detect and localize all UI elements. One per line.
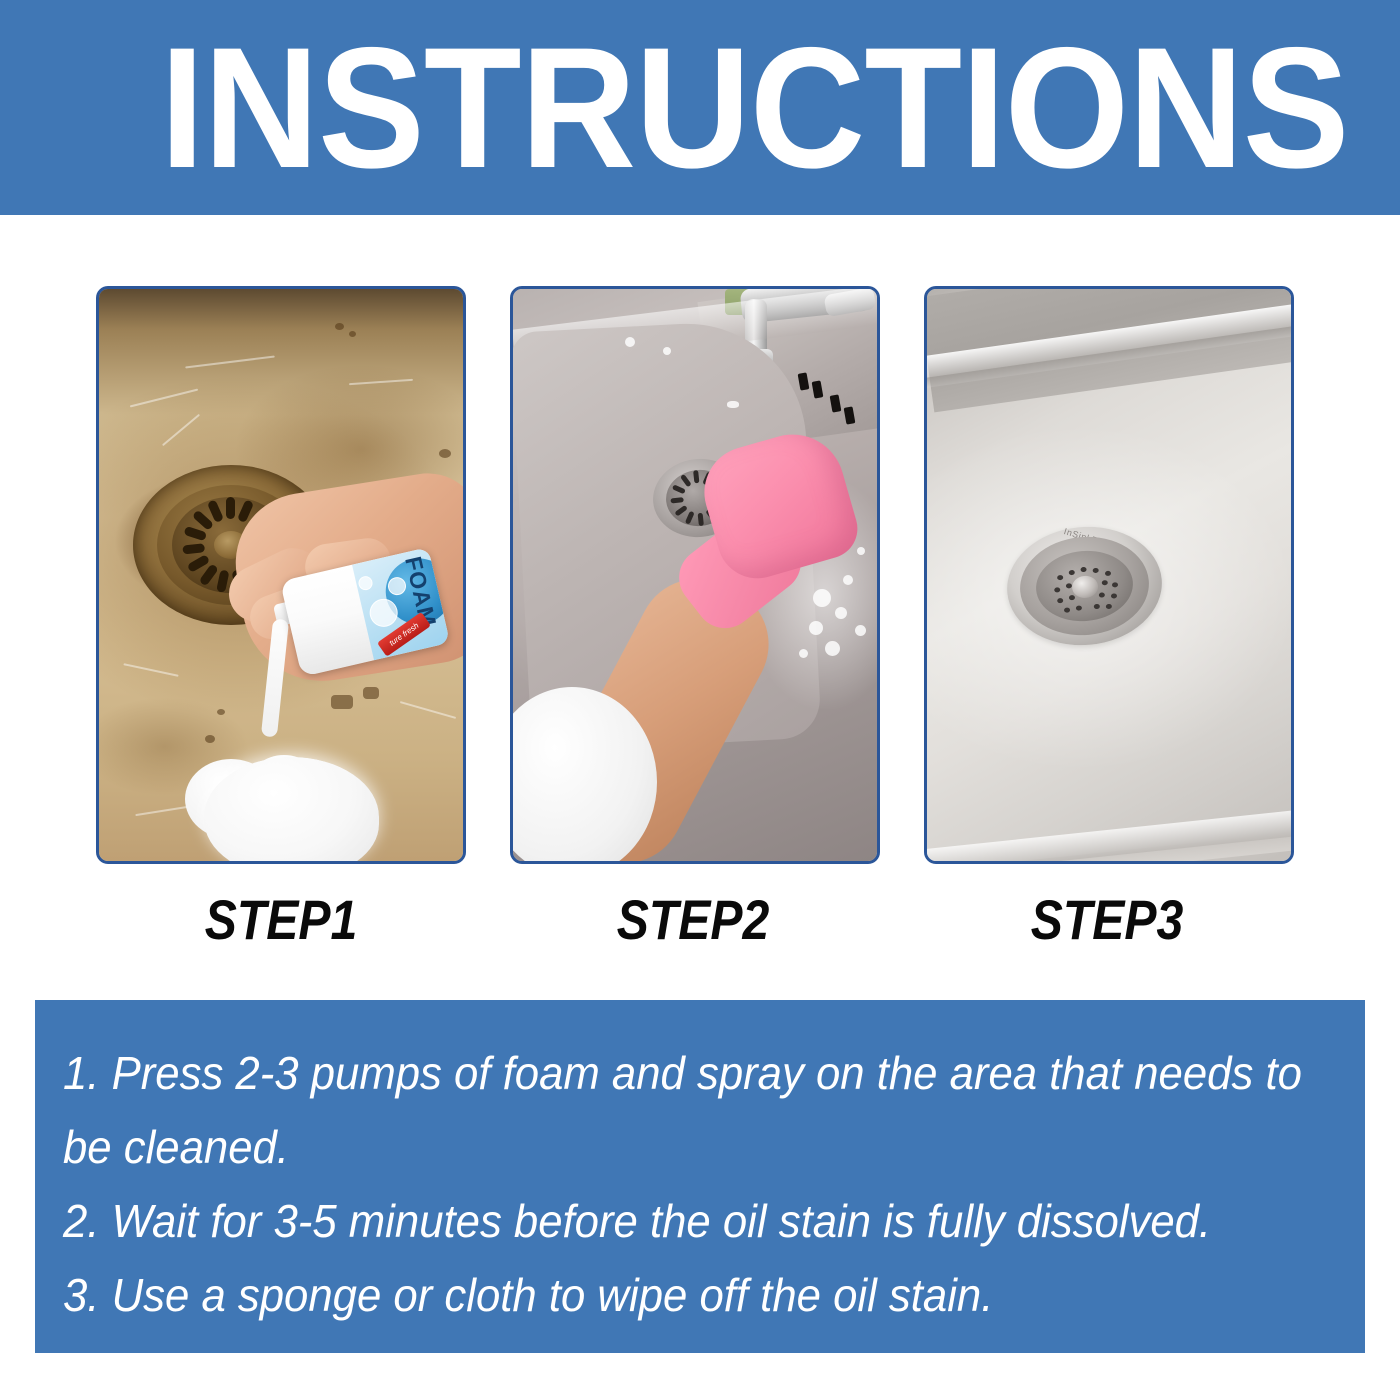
dirty-sink-image: FOAM ture fresh [99, 289, 463, 861]
step-card-1: FOAM ture fresh [96, 286, 466, 864]
steps-row: FOAM ture fresh [96, 286, 1294, 864]
instruction-line-2: 2. Wait for 3-5 minutes before the oil s… [63, 1184, 1273, 1258]
step-label-3: STEP3 [948, 890, 1266, 950]
step1-photo: FOAM ture fresh [96, 286, 466, 864]
instruction-line-1-cont: be cleaned. [63, 1110, 1273, 1184]
step-label-2: STEP2 [534, 890, 852, 950]
step2-photo [510, 286, 880, 864]
clean-sink-image: InSinkErator [927, 289, 1291, 861]
scrubbing-sink-image [513, 289, 877, 861]
header-banner: INSTRUCTIONS [0, 0, 1400, 215]
step-label-1: STEP1 [122, 890, 440, 950]
instruction-line-3: 3. Use a sponge or cloth to wipe off the… [63, 1258, 1273, 1332]
page-title: INSTRUCTIONS [160, 22, 1349, 194]
foam-blob-main [204, 757, 379, 864]
clean-drain: InSinkErator [1002, 520, 1167, 651]
instructions-box: 1. Press 2-3 pumps of foam and spray on … [35, 1000, 1365, 1353]
instruction-line-1: 1. Press 2-3 pumps of foam and spray on … [63, 1036, 1273, 1110]
step-card-3: InSinkErator [924, 286, 1294, 864]
step3-photo: InSinkErator [924, 286, 1294, 864]
step-card-2 [510, 286, 880, 864]
